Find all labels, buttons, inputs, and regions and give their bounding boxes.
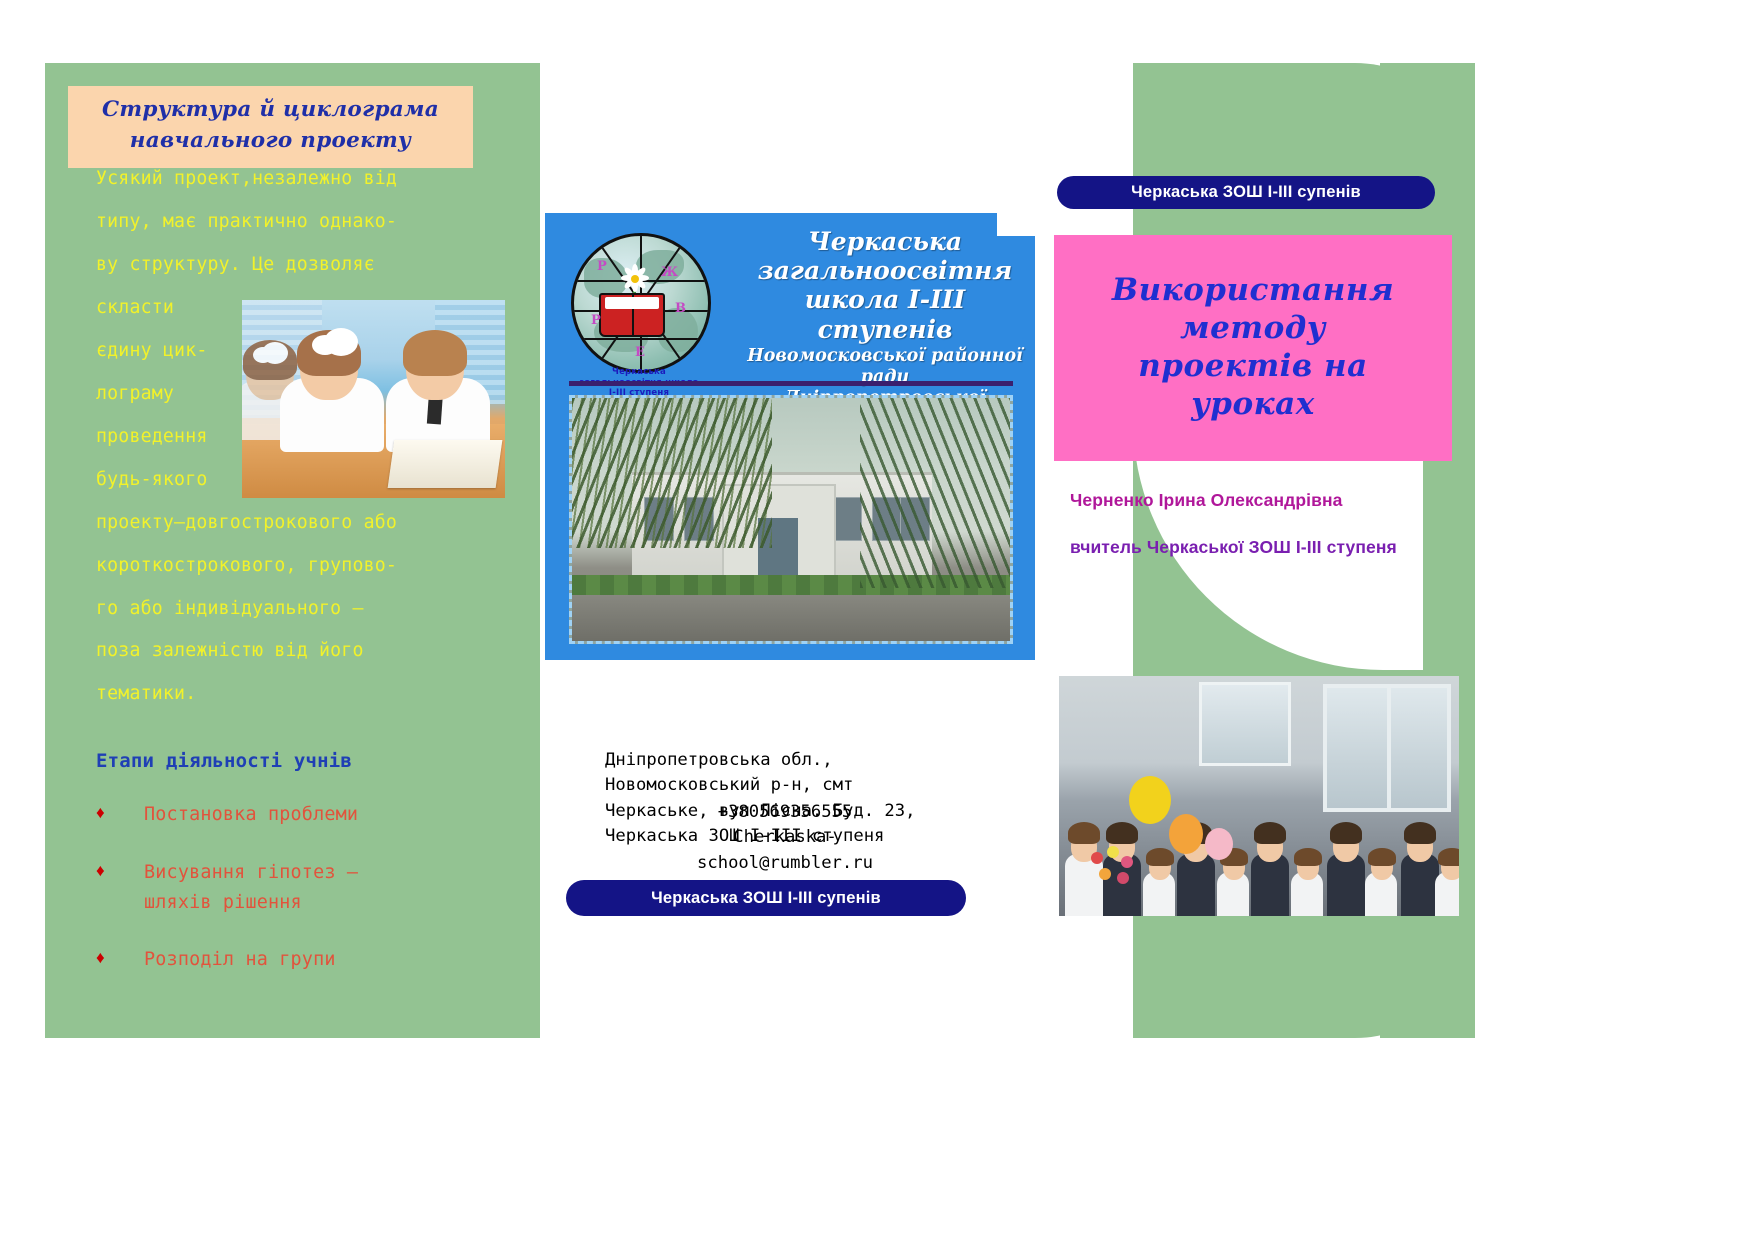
- intro-line: тематики.: [96, 673, 476, 716]
- bullet-label: Розподіл на групи: [144, 945, 336, 975]
- open-book: [388, 440, 503, 488]
- photo-window-left: [1199, 682, 1291, 766]
- list-item: ♦ Розподіл на групи: [96, 945, 496, 975]
- right-title-box: Використання методу проектів на уроках: [1054, 235, 1452, 461]
- classroom-pupils-photo: [242, 300, 505, 498]
- school-poster: Р Ж В Р Е Черкаська загальноосвітня школ…: [545, 213, 1035, 660]
- list-item: ♦ Висування гіпотез — шляхів рішення: [96, 858, 496, 918]
- intro-line: го або індивідуального —: [96, 588, 476, 631]
- poster-heading-line: Черкаська: [745, 227, 1025, 256]
- intro-line: типу, має практично однако-: [96, 201, 476, 244]
- diamond-bullet-icon: ♦: [96, 800, 144, 826]
- intro-line: Усякий проект,незалежно від: [96, 158, 476, 201]
- tree-right: [860, 398, 1010, 588]
- school-emblem-icon: Р Ж В Р Е Черкаська загальноосвітня школ…: [563, 227, 715, 379]
- poster-divider: [569, 381, 1013, 386]
- poster-heading-line: загальноосвітня: [745, 256, 1025, 285]
- photo-ground: [572, 589, 1010, 641]
- center-pill-label: Черкаська ЗОШ I-III супенів: [651, 889, 881, 908]
- diamond-bullet-icon: ♦: [96, 858, 144, 884]
- open-book-icon: [599, 293, 665, 337]
- brochure-page: Структура й циклограма навчального проек…: [0, 0, 1754, 1240]
- left-title-box: Структура й циклограма навчального проек…: [68, 86, 473, 168]
- author-block: Черненко Ірина Олександрівна вчитель Чер…: [1070, 490, 1470, 584]
- balloon-orange: [1169, 814, 1203, 854]
- balloon-pink: [1205, 828, 1233, 860]
- flower-bouquet: [1087, 846, 1149, 900]
- right-pill-label: Черкаська ЗОШ I-III супенів: [1131, 183, 1361, 202]
- daisy-flower-icon: [621, 265, 649, 293]
- left-subheading: Етапи діяльності учнів: [96, 750, 352, 772]
- balloon-yellow: [1129, 776, 1171, 824]
- willow-tree-left: [572, 398, 772, 548]
- list-item: ♦ Постановка проблеми: [96, 800, 496, 830]
- author-role: вчитель Черкаської ЗОШ I-III ступеня: [1070, 537, 1470, 558]
- school-building-photo: [569, 395, 1013, 644]
- intro-line: поза залежністю від його: [96, 630, 476, 673]
- center-school-pill-button[interactable]: Черкаська ЗОШ I-III супенів: [566, 880, 966, 916]
- poster-heading-line: школа I-III ступенів: [745, 285, 1025, 344]
- intro-line: ву структуру. Це дозволяє: [96, 244, 476, 287]
- right-school-pill-button[interactable]: Черкаська ЗОШ I-III супенів: [1057, 176, 1435, 209]
- left-title-text: Структура й циклограма навчального проек…: [76, 95, 465, 156]
- intro-line: короткострокового, групово-: [96, 545, 476, 588]
- right-title-text: Використання методу проектів на уроках: [1112, 272, 1394, 423]
- bullet-label: Постановка проблеми: [144, 800, 358, 830]
- intro-line: проекту—довгострокового або: [96, 502, 476, 545]
- school-contact: +380569356555 Cherkaska- school@rumbler.…: [585, 800, 985, 876]
- left-bullet-list: ♦ Постановка проблеми ♦ Висування гіпоте…: [96, 800, 496, 1003]
- school-assembly-photo: [1059, 676, 1459, 916]
- bullet-label: Висування гіпотез — шляхів рішення: [144, 858, 358, 918]
- diamond-bullet-icon: ♦: [96, 945, 144, 971]
- author-name: Черненко Ірина Олександрівна: [1070, 490, 1470, 511]
